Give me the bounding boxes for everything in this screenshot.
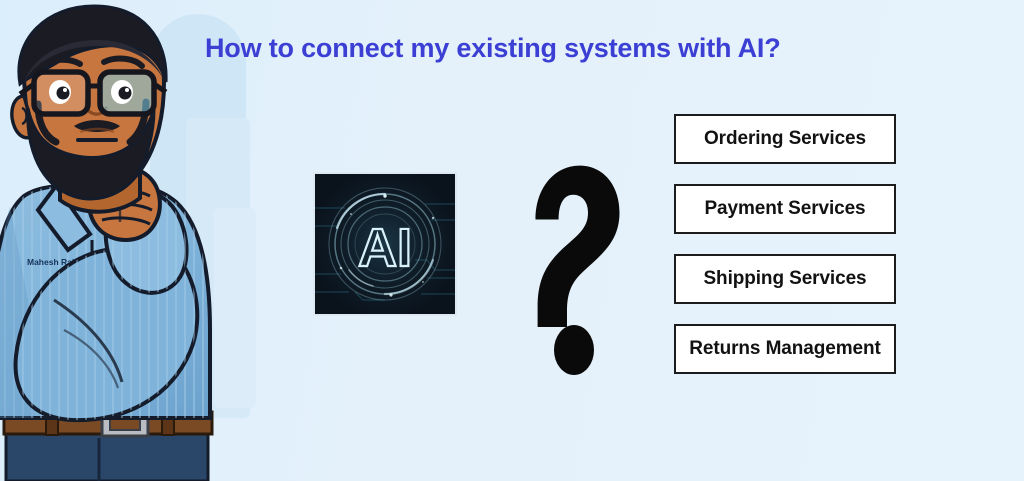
services-list: Ordering Services Payment Services Shipp… [674, 114, 896, 374]
service-box-returns[interactable]: Returns Management [674, 324, 896, 374]
question-mark-icon [516, 150, 626, 380]
thinking-person-illustration: Mahesh Raja [0, 0, 264, 481]
ai-logo-tile: AI [313, 172, 457, 316]
service-box-shipping[interactable]: Shipping Services [674, 254, 896, 304]
service-label-shipping: Shipping Services [703, 268, 866, 290]
service-box-payment[interactable]: Payment Services [674, 184, 896, 234]
service-label-payment: Payment Services [704, 198, 865, 220]
service-label-returns: Returns Management [689, 338, 880, 360]
ai-tile-label: AI [358, 218, 412, 278]
page-title: How to connect my existing systems with … [205, 33, 865, 64]
slide-canvas: How to connect my existing systems with … [0, 0, 1024, 481]
service-label-ordering: Ordering Services [704, 128, 866, 150]
service-box-ordering[interactable]: Ordering Services [674, 114, 896, 164]
